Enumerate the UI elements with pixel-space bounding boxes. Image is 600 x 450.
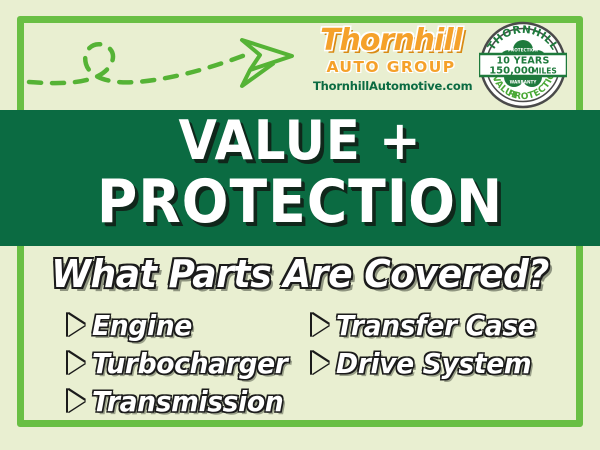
covered-parts-section: Engine Turbocharger Transmission Transfe… (0, 306, 600, 424)
triangle-bullet-icon (312, 314, 329, 336)
part-label: Transmission (92, 385, 283, 418)
list-item: Turbocharger (68, 344, 298, 382)
list-item: Drive System (312, 344, 546, 382)
seal-miles-unit-text: MILES (531, 67, 557, 76)
warranty-poster: Thornhill AUTO GROUP ThornhillAutomotive… (0, 0, 600, 450)
part-label: Drive System (336, 347, 531, 380)
logo-subtitle-text: AUTO GROUP (313, 58, 469, 76)
covered-parts-right-column: Transfer Case Drive System (312, 306, 546, 382)
list-item: Engine (68, 306, 298, 344)
headline-group: VALUE + PROTECTION (0, 112, 600, 234)
thornhill-logo: Thornhill AUTO GROUP ThornhillAutomotive… (313, 26, 469, 93)
triangle-bullet-icon (68, 352, 85, 374)
part-label: Engine (92, 309, 192, 342)
warranty-seal-badge: THORNHILL VALUE + PROTECTION PROTECTION … (479, 21, 567, 109)
logo-website-text: ThornhillAutomotive.com (313, 79, 469, 93)
part-label: Transfer Case (336, 309, 535, 342)
triangle-bullet-icon (68, 390, 85, 412)
triangle-bullet-icon (312, 352, 329, 374)
part-label: Turbocharger (92, 347, 288, 380)
logo-brand-text: Thornhill (313, 26, 469, 56)
seal-inner-bottom-text: WARRANTY (510, 80, 538, 85)
dashed-loop-arrow-icon (26, 24, 296, 101)
headline-line-1: VALUE + (24, 112, 576, 170)
covered-parts-left-column: Engine Turbocharger Transmission (68, 306, 298, 420)
list-item: Transfer Case (312, 306, 546, 344)
seal-inner-top-text: PROTECTION (508, 48, 539, 53)
subhead-question: What Parts Are Covered? (15, 252, 585, 296)
list-item: Transmission (68, 382, 298, 420)
seal-miles-text: 150,000 (489, 66, 535, 77)
headline-line-2: PROTECTION (24, 170, 576, 234)
triangle-bullet-icon (68, 314, 85, 336)
